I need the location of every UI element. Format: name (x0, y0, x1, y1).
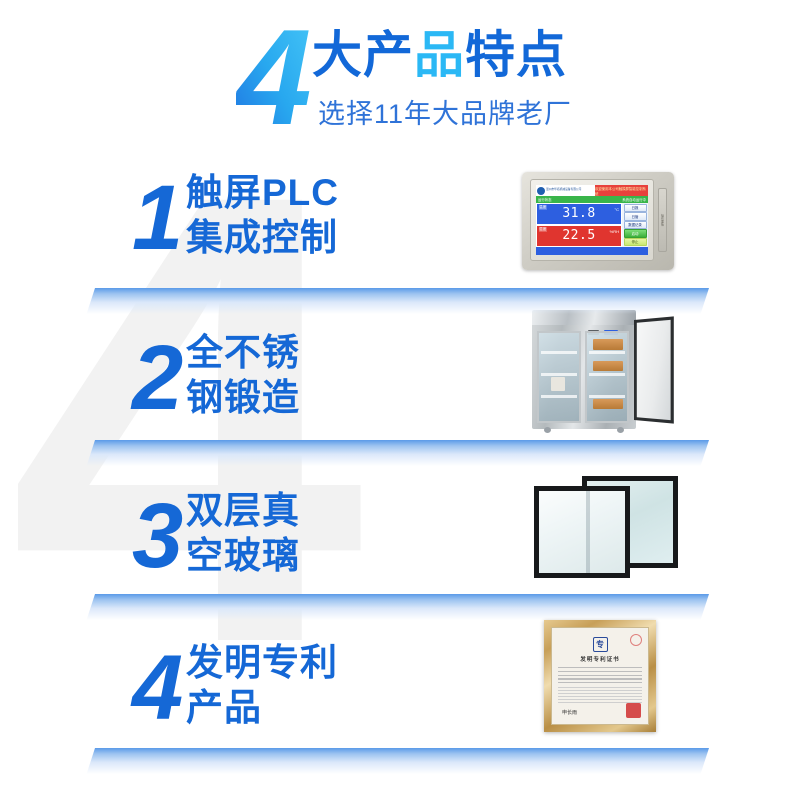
feature-line2-3: 空玻璃 (186, 533, 300, 578)
cabinet-shelf (589, 395, 625, 398)
stainless-cabinet-image (524, 310, 680, 432)
plc-bottom-bar (536, 247, 648, 255)
plc-bezel: 温州市华拓机械设备有限公司 欢迎使用本公司触摸屏智能控制系统 运行状态 系统自动… (530, 179, 654, 261)
cabinet-glass-door-right (585, 331, 629, 423)
cabinet-open-door (634, 316, 674, 423)
plc-button-stop[interactable]: 停止 (624, 238, 647, 247)
vacuum-glass-image (524, 470, 688, 580)
cabinet-caster (617, 427, 624, 433)
separator-3 (87, 594, 709, 620)
cabinet-content-item (593, 399, 623, 409)
page-title-part-3: 特点 (465, 27, 567, 83)
cabinet-shelf (541, 395, 577, 398)
certificate-small-stamp-icon (630, 634, 642, 646)
separator-2 (87, 440, 709, 466)
plc-company-name: 温州市华拓机械设备有限公司 (546, 189, 581, 192)
cabinet-shelf (589, 373, 625, 376)
cabinet-content-item (593, 339, 623, 350)
plc-topbar: 温州市华拓机械设备有限公司 欢迎使用本公司触摸屏智能控制系统 (536, 185, 648, 196)
header: 4 大产品特点 选择11年大品牌老厂 (0, 0, 800, 140)
plc-readout-label-2: 湿度 (539, 227, 547, 232)
plc-readout-unit-2: %RH (610, 229, 619, 234)
separator-1 (87, 288, 709, 314)
certificate-paragraph-block (558, 687, 642, 704)
feature-text-3: 双层真 空玻璃 (186, 488, 300, 578)
glass-panel-front (534, 486, 630, 578)
feature-line2-4: 产品 (186, 685, 338, 730)
page-subtitle: 选择11年大品牌老厂 (318, 92, 572, 131)
plc-readout-humidity: 湿度 22.5 %RH (536, 225, 622, 247)
certificate-line (558, 667, 642, 668)
certificate-signature: 申长雨 (562, 709, 577, 716)
cabinet-body (532, 325, 636, 429)
patent-certificate-image: 专 发明专利证书 申长雨 (544, 620, 656, 732)
company-logo-icon (537, 187, 545, 195)
plc-touchscreen-image: 温州市华拓机械设备有限公司 欢迎使用本公司触摸屏智能控制系统 运行状态 系统自动… (522, 172, 674, 270)
header-big-number-text: 4 (236, 16, 312, 131)
plc-body: 温度 31.8 °C 湿度 22.5 %RH 日报 日管 数据记录 (536, 203, 648, 248)
feature-line2-2: 钢锻造 (186, 375, 300, 420)
plc-readout-temperature: 温度 31.8 °C (536, 203, 622, 225)
certificate-red-seal-icon (626, 703, 641, 718)
cabinet-content-item (551, 377, 565, 391)
plc-side-strip: 操作面板 (658, 188, 667, 252)
cabinet-content-item (593, 361, 623, 371)
infographic-page: 4 4 大产品特点 选择11年大品牌老厂 1 触屏PLC 集成控制 (0, 0, 800, 800)
feature-number-3: 3 (132, 490, 183, 582)
cabinet-shelf (541, 351, 577, 354)
plc-readouts: 温度 31.8 °C 湿度 22.5 %RH (536, 203, 622, 248)
plc-status-right: 系统自动运行中 (622, 197, 646, 202)
certificate-line (558, 678, 642, 679)
separator-4 (87, 748, 709, 774)
feature-text-1: 触屏PLC 集成控制 (186, 170, 339, 260)
feature-line1-3: 双层真 (186, 488, 300, 533)
feature-text-2: 全不锈 钢锻造 (186, 330, 300, 420)
feature-number-4: 4 (132, 642, 183, 734)
cabinet-caster (544, 427, 551, 433)
plc-company-logo: 温州市华拓机械设备有限公司 (536, 185, 595, 196)
feature-line1-2: 全不锈 (186, 330, 300, 375)
page-title-part-2: 品 (414, 27, 465, 83)
page-title: 大产品特点 (312, 30, 567, 80)
plc-readout-value-1: 31.8 (562, 206, 595, 221)
plc-button-2[interactable]: 日管 (624, 212, 647, 221)
plc-button-1[interactable]: 日报 (624, 204, 647, 213)
page-title-part-1: 大产 (312, 27, 414, 83)
plc-readout-unit-1: °C (615, 207, 620, 212)
certificate-text-lines (558, 667, 642, 683)
certificate-line (558, 682, 642, 683)
plc-button-3[interactable]: 数据记录 (624, 221, 647, 230)
certificate-line (558, 671, 642, 672)
cabinet-shelf (589, 351, 625, 354)
feature-line1-4: 发明专利 (186, 640, 338, 685)
plc-button-panel: 日报 日管 数据记录 启动 停止 (622, 203, 648, 248)
plc-marquee: 欢迎使用本公司触摸屏智能控制系统 (595, 185, 648, 196)
feature-line2-1: 集成控制 (186, 215, 339, 260)
plc-status-left: 运行状态 (538, 197, 552, 202)
plc-readout-label-1: 温度 (539, 205, 547, 210)
feature-text-4: 发明专利 产品 (186, 640, 338, 730)
feature-number-2: 2 (132, 332, 183, 424)
plc-button-start[interactable]: 启动 (624, 229, 647, 238)
certificate-paper: 专 发明专利证书 申长雨 (551, 627, 649, 725)
certificate-emblem-icon: 专 (593, 637, 608, 652)
plc-side-label: 操作面板 (661, 214, 665, 226)
cabinet-shelf (541, 373, 577, 376)
cabinet-glass-door-left (537, 331, 581, 423)
plc-screen: 温州市华拓机械设备有限公司 欢迎使用本公司触摸屏智能控制系统 运行状态 系统自动… (536, 185, 648, 255)
feature-number-1: 1 (132, 172, 183, 264)
certificate-title: 发明专利证书 (580, 655, 620, 663)
plc-readout-value-2: 22.5 (562, 228, 595, 243)
certificate-line (558, 675, 642, 676)
feature-line1-1: 触屏PLC (186, 170, 339, 215)
